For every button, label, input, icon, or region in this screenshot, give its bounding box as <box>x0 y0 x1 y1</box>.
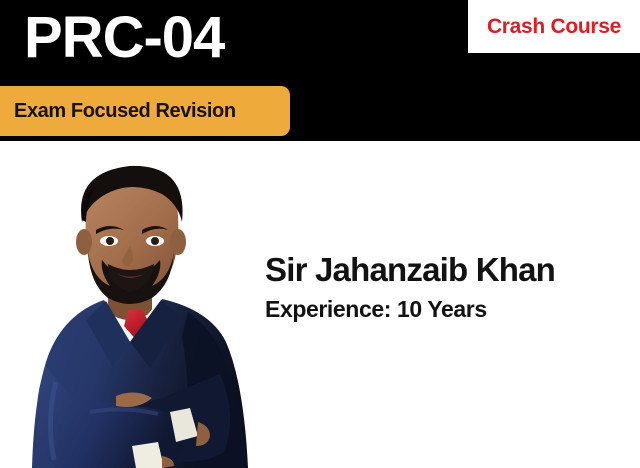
crash-course-badge: Crash Course <box>468 0 640 53</box>
header-band: PRC-04 Crash Course Exam Focused Revisio… <box>0 0 640 141</box>
instructor-info: Sir Jahanzaib Khan Experience: 10 Years <box>265 251 635 322</box>
instructor-experience: Experience: 10 Years <box>265 296 635 322</box>
instructor-photo <box>12 160 274 468</box>
instructor-name: Sir Jahanzaib Khan <box>265 251 635 289</box>
exam-focused-revision-pill: Exam Focused Revision <box>0 86 290 136</box>
page-title: PRC-04 <box>24 6 224 70</box>
crash-course-badge-label: Crash Course <box>487 15 621 39</box>
exam-focused-revision-label: Exam Focused Revision <box>14 100 236 123</box>
course-poster: PRC-04 Crash Course Exam Focused Revisio… <box>0 0 640 468</box>
